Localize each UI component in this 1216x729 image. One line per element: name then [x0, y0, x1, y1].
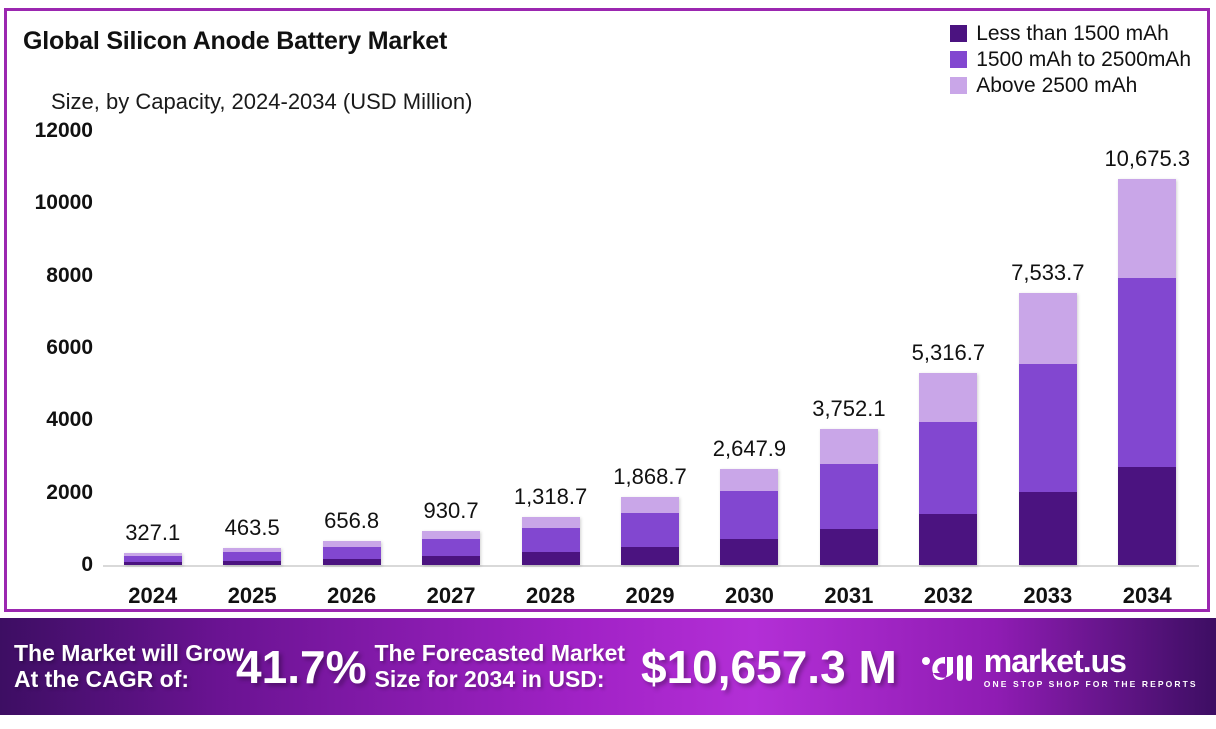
bar-group[interactable]: 2,647.92030 — [720, 131, 778, 565]
bar-segment[interactable] — [820, 464, 878, 529]
bar-value-label: 2,647.9 — [713, 436, 786, 462]
y-axis-tick-label: 2000 — [46, 481, 93, 505]
x-axis-tick-label: 2024 — [128, 583, 177, 609]
stacked-bar[interactable] — [1118, 179, 1176, 565]
stacked-bar[interactable] — [124, 553, 182, 565]
y-axis-tick-label: 6000 — [46, 336, 93, 360]
bar-segment[interactable] — [621, 513, 679, 547]
bar-value-label: 327.1 — [125, 520, 180, 546]
bar-segment[interactable] — [124, 562, 182, 565]
bar-segment[interactable] — [422, 556, 480, 565]
x-axis-tick-label: 2028 — [526, 583, 575, 609]
stacked-bar[interactable] — [522, 517, 580, 565]
market-us-logo[interactable]: market.us ONE STOP SHOP FOR THE REPORTS — [919, 645, 1198, 689]
forecast-value: $10,657.3 M — [641, 640, 897, 694]
logo-name: market.us — [984, 645, 1198, 677]
bar-value-label: 463.5 — [225, 515, 280, 541]
market-us-logo-icon — [919, 647, 975, 687]
y-axis-tick-label: 8000 — [46, 264, 93, 288]
bar-value-label: 1,868.7 — [613, 464, 686, 490]
bar-group[interactable]: 656.82026 — [323, 131, 381, 565]
bar-segment[interactable] — [720, 491, 778, 540]
bar-segment[interactable] — [720, 469, 778, 490]
bar-segment[interactable] — [223, 561, 281, 565]
page-title: Global Silicon Anode Battery Market — [23, 27, 447, 56]
bar-segment[interactable] — [621, 547, 679, 565]
y-axis: 120001000080006000400020000 — [7, 131, 99, 565]
bar-group[interactable]: 7,533.72033 — [1019, 131, 1077, 565]
bar-segment[interactable] — [1118, 179, 1176, 278]
chart-subtitle: Size, by Capacity, 2024-2034 (USD Millio… — [51, 89, 472, 115]
bar-segment[interactable] — [522, 552, 580, 565]
bar-segment[interactable] — [820, 529, 878, 565]
stacked-bar[interactable] — [422, 531, 480, 565]
bar-segment[interactable] — [919, 373, 977, 422]
x-axis-tick-label: 2032 — [924, 583, 973, 609]
bar-value-label: 3,752.1 — [812, 396, 885, 422]
forecast-label-line2: Size for 2034 in USD: — [374, 667, 625, 693]
bar-segment[interactable] — [720, 539, 778, 565]
bar-segment[interactable] — [1118, 467, 1176, 565]
chart-card: Global Silicon Anode Battery Market Size… — [4, 8, 1210, 612]
legend-item[interactable]: Above 2500 mAh — [950, 75, 1137, 96]
bar-segment[interactable] — [422, 539, 480, 556]
cagr-label-block: The Market will Grow At the CAGR of: — [14, 641, 244, 693]
bar-segment[interactable] — [323, 547, 381, 559]
stacked-bar[interactable] — [323, 541, 381, 565]
cagr-label-line2: At the CAGR of: — [14, 667, 244, 693]
y-axis-tick-label: 10000 — [35, 191, 93, 215]
legend-item-label: 1500 mAh to 2500mAh — [976, 49, 1191, 70]
x-axis-tick-label: 2029 — [626, 583, 675, 609]
stacked-bar[interactable] — [223, 548, 281, 565]
bar-group[interactable]: 1,318.72028 — [522, 131, 580, 565]
x-axis-tick-label: 2031 — [824, 583, 873, 609]
chart-page: Global Silicon Anode Battery Market Size… — [0, 0, 1216, 729]
y-axis-tick-label: 4000 — [46, 408, 93, 432]
bar-segment[interactable] — [621, 497, 679, 512]
legend-swatch-icon — [950, 77, 967, 94]
bar-segment[interactable] — [1019, 364, 1077, 492]
bar-group[interactable]: 5,316.72032 — [919, 131, 977, 565]
bar-value-label: 1,318.7 — [514, 484, 587, 510]
legend-item-label: Above 2500 mAh — [976, 75, 1137, 96]
cagr-label-line1: The Market will Grow — [14, 641, 244, 667]
y-axis-tick-label: 0 — [81, 553, 93, 577]
bar-group[interactable]: 3,752.12031 — [820, 131, 878, 565]
bar-segment[interactable] — [820, 429, 878, 464]
cagr-value: 41.7% — [236, 640, 366, 694]
logo-tagline: ONE STOP SHOP FOR THE REPORTS — [984, 680, 1198, 689]
bar-segment[interactable] — [1019, 492, 1077, 565]
x-axis-tick-label: 2030 — [725, 583, 774, 609]
x-axis-tick-label: 2025 — [228, 583, 277, 609]
logo-text-block: market.us ONE STOP SHOP FOR THE REPORTS — [984, 645, 1198, 689]
bar-segment[interactable] — [422, 531, 480, 539]
bar-segment[interactable] — [522, 517, 580, 528]
bar-value-label: 5,316.7 — [912, 340, 985, 366]
stacked-bar[interactable] — [720, 469, 778, 565]
legend-item[interactable]: 1500 mAh to 2500mAh — [950, 49, 1191, 70]
plot-area: 120001000080006000400020000 327.12024463… — [7, 131, 1207, 609]
bottom-banner: The Market will Grow At the CAGR of: 41.… — [0, 618, 1216, 715]
bar-value-label: 930.7 — [424, 498, 479, 524]
bar-segment[interactable] — [323, 559, 381, 565]
bar-value-label: 7,533.7 — [1011, 260, 1084, 286]
chart-legend: Less than 1500 mAh1500 mAh to 2500mAhAbo… — [950, 23, 1191, 96]
bar-group[interactable]: 463.52025 — [223, 131, 281, 565]
bar-segment[interactable] — [223, 552, 281, 561]
bar-group[interactable]: 1,868.72029 — [621, 131, 679, 565]
bar-group[interactable]: 930.72027 — [422, 131, 480, 565]
x-axis-tick-label: 2027 — [427, 583, 476, 609]
legend-item[interactable]: Less than 1500 mAh — [950, 23, 1169, 44]
bar-group[interactable]: 10,675.32034 — [1118, 131, 1176, 565]
bar-segment[interactable] — [919, 514, 977, 565]
x-axis-tick-label: 2034 — [1123, 583, 1172, 609]
bar-segment[interactable] — [522, 528, 580, 552]
stacked-bar[interactable] — [820, 429, 878, 565]
bar-group[interactable]: 327.12024 — [124, 131, 182, 565]
bar-segment[interactable] — [1019, 293, 1077, 365]
bar-series-container: 327.12024463.52025656.82026930.720271,31… — [103, 131, 1197, 565]
stacked-bar[interactable] — [919, 373, 977, 565]
stacked-bar[interactable] — [621, 497, 679, 565]
stacked-bar[interactable] — [1019, 293, 1077, 565]
bar-value-label: 10,675.3 — [1104, 146, 1190, 172]
bar-segment[interactable] — [919, 422, 977, 514]
y-axis-tick-label: 12000 — [35, 119, 93, 143]
forecast-label-block: The Forecasted Market Size for 2034 in U… — [374, 641, 625, 693]
x-axis-tick-label: 2033 — [1023, 583, 1072, 609]
bar-segment[interactable] — [1118, 278, 1176, 466]
legend-swatch-icon — [950, 51, 967, 68]
legend-swatch-icon — [950, 25, 967, 42]
bar-value-label: 656.8 — [324, 508, 379, 534]
x-axis-tick-label: 2026 — [327, 583, 376, 609]
x-axis-baseline — [103, 565, 1199, 567]
forecast-label-line1: The Forecasted Market — [374, 641, 625, 667]
legend-item-label: Less than 1500 mAh — [976, 23, 1169, 44]
